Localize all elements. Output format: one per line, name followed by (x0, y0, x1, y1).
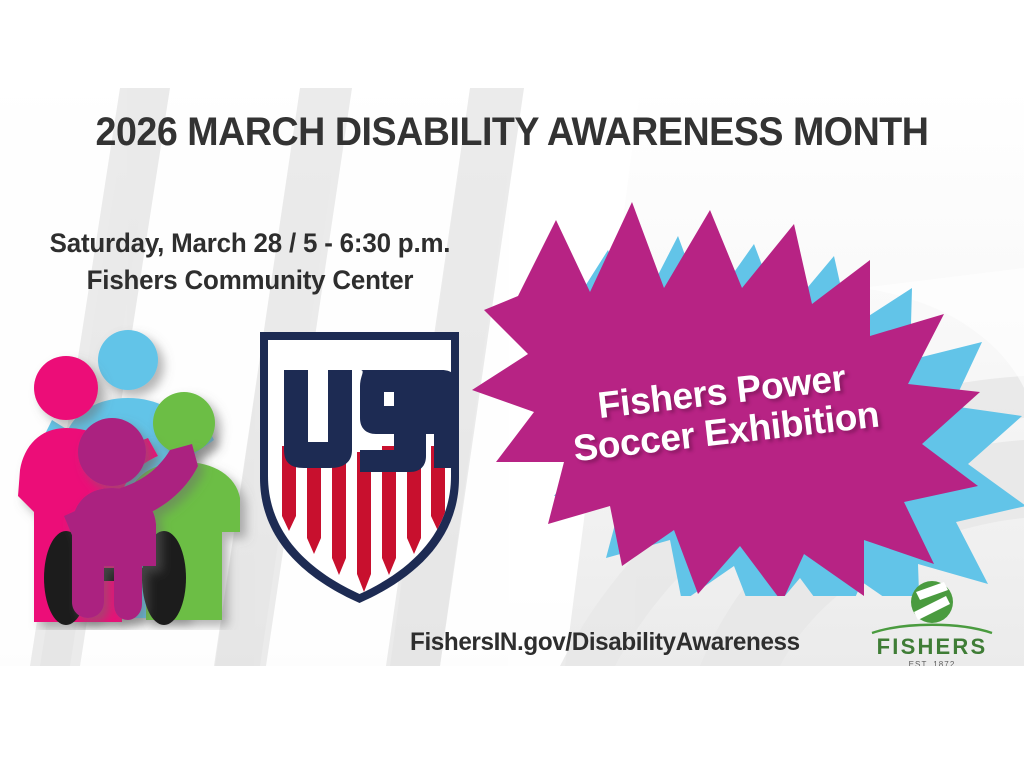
fishers-logo-mark (911, 581, 953, 623)
event-website-url: FishersIN.gov/DisabilityAwareness (410, 628, 800, 657)
event-details: Saturday, March 28 / 5 - 6:30 p.m. Fishe… (0, 228, 500, 296)
people-figures-svg (8, 320, 258, 630)
poster-title: 2026 MARCH DISABILITY AWARENESS MONTH (31, 110, 994, 155)
disability-awareness-people-illustration (8, 320, 258, 630)
fishers-logo-arc (872, 625, 992, 633)
starburst-graphic: Fishers Power Soccer Exhibition (452, 176, 1024, 596)
fishers-city-logo: FISHERS EST. 1872 (868, 578, 996, 666)
fishers-logo-svg: FISHERS EST. 1872 (868, 578, 996, 666)
fishers-logo-wordmark: FISHERS (877, 634, 988, 659)
fishers-logo-established: EST. 1872 (909, 660, 956, 666)
us-soccer-crest (252, 326, 467, 606)
poster-canvas: Fishers Power Soccer Exhibition (0, 0, 1024, 768)
event-venue: Fishers Community Center (10, 265, 490, 296)
starburst-shapes (452, 176, 1024, 596)
event-datetime: Saturday, March 28 / 5 - 6:30 p.m. (10, 228, 490, 259)
starburst-magenta-shape (472, 202, 980, 596)
us-soccer-crest-svg (252, 326, 467, 606)
poster-graphic-area: Fishers Power Soccer Exhibition (0, 88, 1024, 666)
